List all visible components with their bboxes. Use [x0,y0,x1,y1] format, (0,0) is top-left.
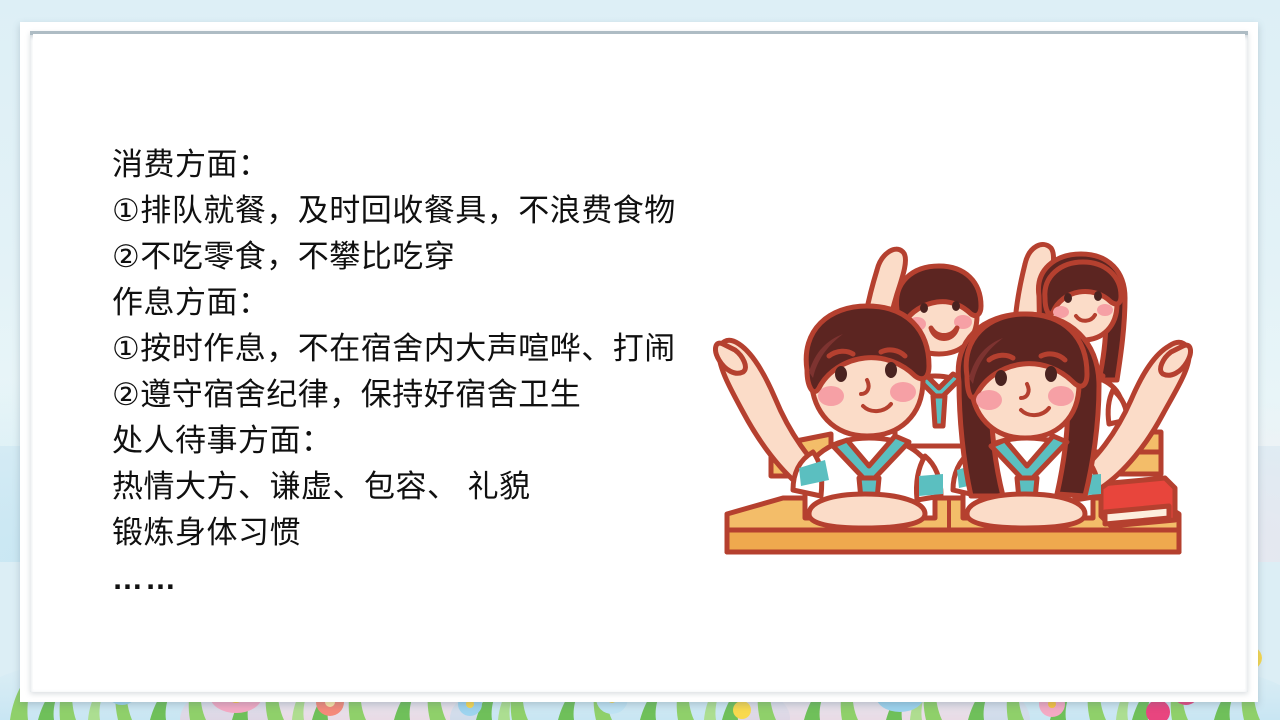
text-line-7: 处人待事方面： [112,418,722,464]
text-line-9: 锻炼身体习惯 [112,510,722,556]
text-line-6: ②遵守宿舍纪律，保持好宿舍卫生 [112,372,722,418]
text-line-ellipsis: …… [112,556,722,602]
text-line-4: 作息方面： [112,280,722,326]
text-line-1: 消费方面： [112,142,722,188]
text-line-2: ①排队就餐，及时回收餐具，不浪费食物 [112,188,722,234]
figure-front-left-boy [716,306,943,528]
text-line-8: 热情大方、谦虚、包容、 礼貌 [112,464,722,510]
red-book [1101,478,1175,526]
students-raising-hands-illustration [713,184,1193,584]
slide-canvas: 消费方面： ①排队就餐，及时回收餐具，不浪费食物 ②不吃零食，不攀比吃穿 作息方… [33,34,1245,689]
text-line-3: ②不吃零食，不攀比吃穿 [112,234,722,280]
content-text-block: 消费方面： ①排队就餐，及时回收餐具，不浪费食物 ②不吃零食，不攀比吃穿 作息方… [112,142,722,602]
text-line-5: ①按时作息，不在宿舍内大声喧哗、打闹 [112,326,722,372]
